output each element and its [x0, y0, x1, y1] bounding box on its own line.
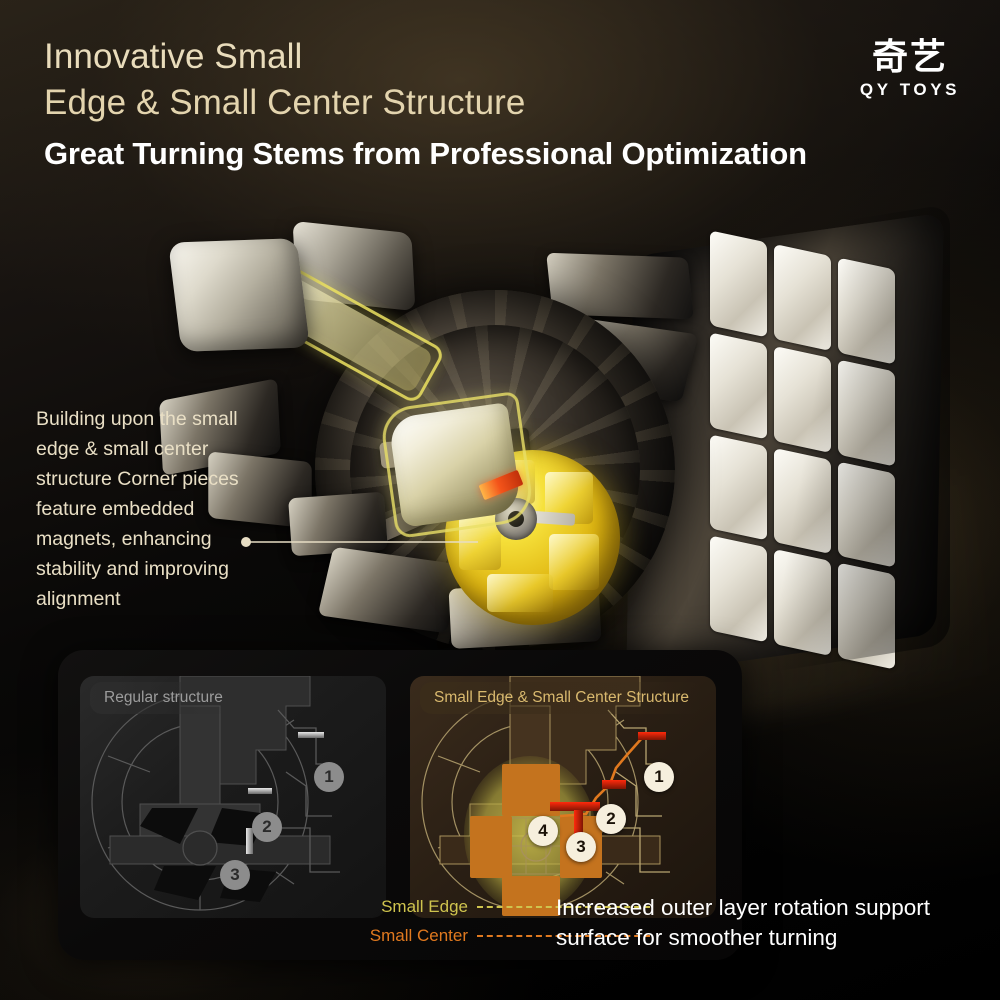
callout-small-1[interactable]: 1 — [644, 762, 674, 792]
product-render-3d — [150, 195, 1000, 715]
gold-segment — [487, 574, 553, 612]
bottom-caption-line-1: Increased outer layer rotation support — [556, 893, 976, 923]
callout-regular-2[interactable]: 2 — [252, 812, 282, 842]
headline-line-1: Innovative Small — [44, 34, 974, 80]
subheadline: Great Turning Stems from Professional Op… — [44, 132, 974, 176]
feature-description: Building upon the small edge & small cen… — [36, 404, 268, 614]
legend-label-small-edge: Small Edge — [350, 897, 468, 917]
callout-regular-1[interactable]: 1 — [314, 762, 344, 792]
legend-label-small-center: Small Center — [350, 926, 468, 946]
diagram-regular-structure: Regular structure 1 2 3 — [80, 676, 386, 918]
diagram-left-title: Regular structure — [90, 682, 237, 714]
gold-segment — [549, 534, 599, 590]
callout-small-4[interactable]: 4 — [528, 816, 558, 846]
header-block: Innovative Small Edge & Small Center Str… — [44, 34, 974, 176]
brand-logo: 奇艺 QY TOYS — [842, 38, 978, 100]
callout-small-2[interactable]: 2 — [596, 804, 626, 834]
headline-line-2: Edge & Small Center Structure — [44, 80, 974, 126]
callout-regular-3[interactable]: 3 — [220, 860, 250, 890]
bottom-caption-line-2: surface for smoother turning — [556, 923, 976, 953]
diagram-right-title: Small Edge & Small Center Structure — [420, 682, 703, 714]
brand-logo-cn: 奇艺 — [842, 38, 978, 78]
corner-piece-chrome — [168, 238, 310, 352]
callout-small-3[interactable]: 3 — [566, 832, 596, 862]
bottom-caption: Increased outer layer rotation support s… — [556, 893, 976, 953]
diagram-small-structure: Small Edge & Small Center Structure 1 2 … — [410, 676, 716, 918]
edge-piece-outline — [379, 391, 536, 539]
brand-logo-en: QY TOYS — [842, 79, 978, 100]
poster-canvas: Innovative Small Edge & Small Center Str… — [0, 0, 1000, 1000]
leader-line — [240, 532, 480, 552]
